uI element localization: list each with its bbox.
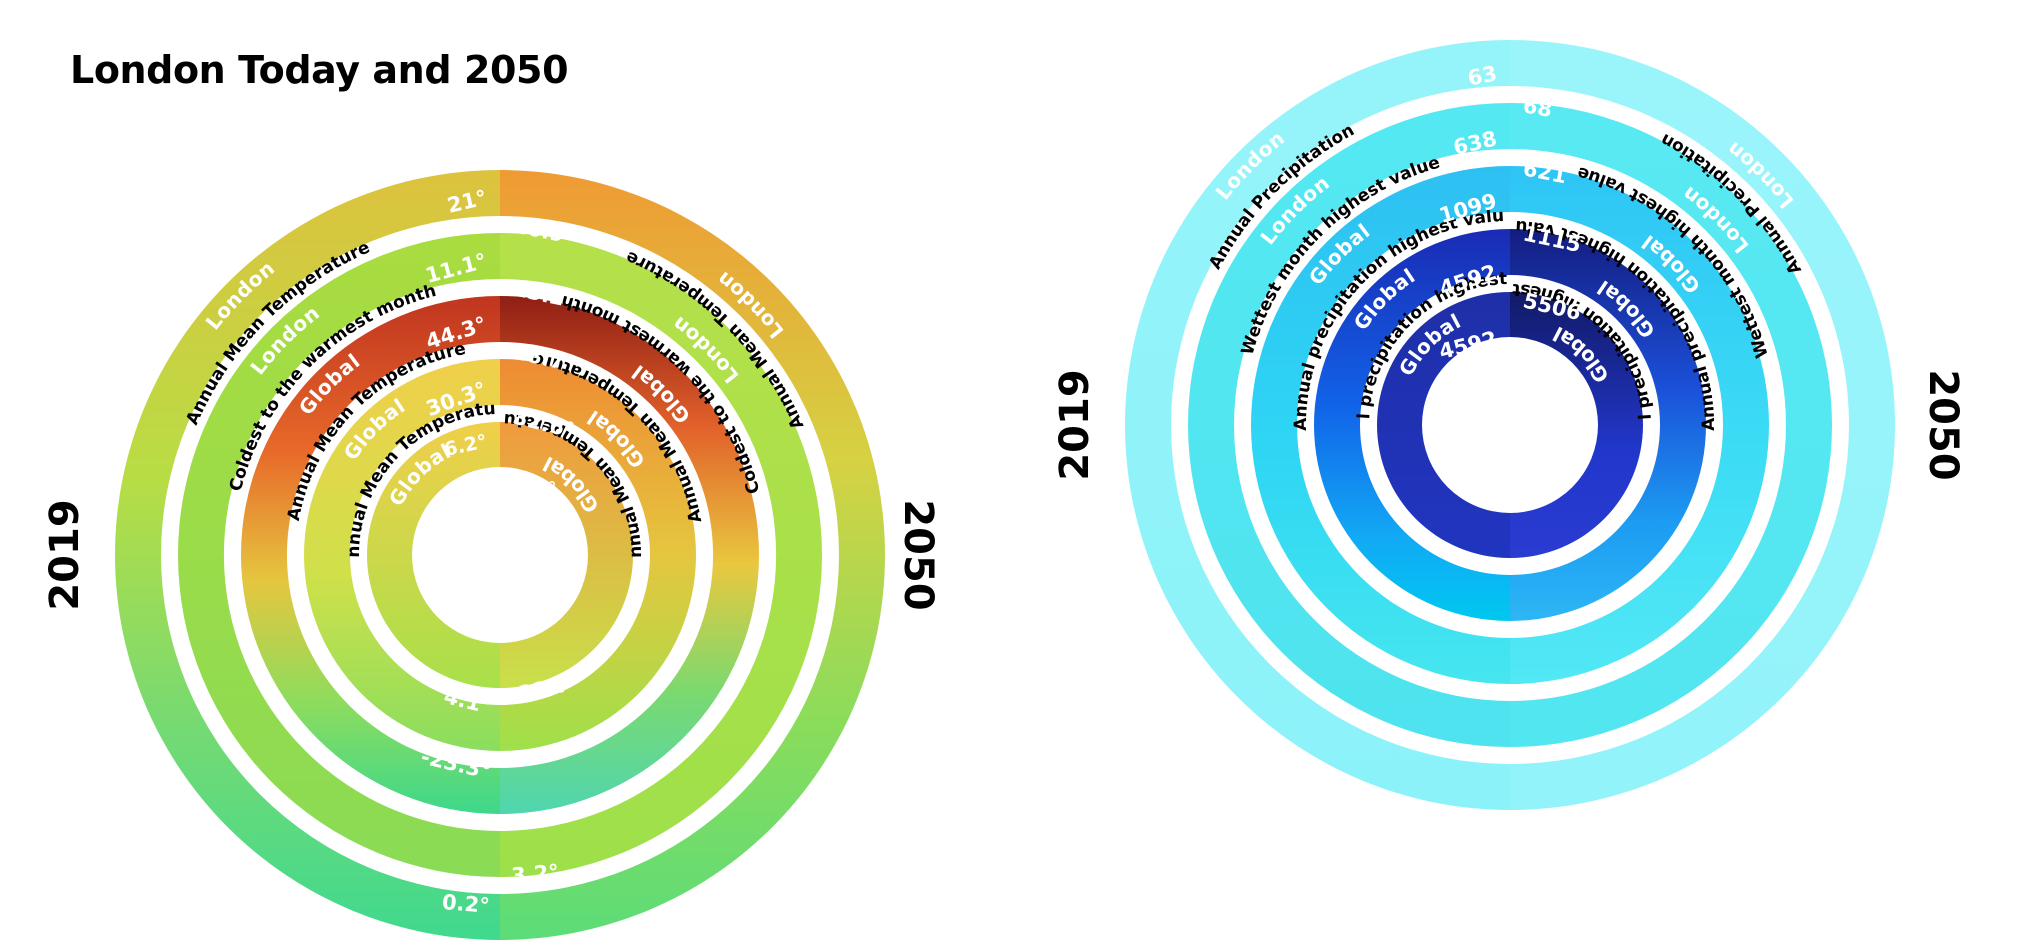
value-2050-ring0: 5506 xyxy=(1521,367,1584,404)
value-2050-ring4: 68 xyxy=(1521,93,1554,122)
value-annotation-2050-min-ring4: 3.2° xyxy=(510,860,560,888)
chart-temperature: Global Annual Mean Temperature Global An… xyxy=(0,0,1010,950)
year-label-left-2019: 2019 xyxy=(1052,369,1098,480)
year-label-left-2019: 2019 xyxy=(42,499,88,610)
year-label-right-2050: 2050 xyxy=(895,499,941,610)
temperature-svg: Global Annual Mean Temperature Global An… xyxy=(0,0,1010,950)
chart-precipitation: Global Annual precipitation highest valu… xyxy=(1010,0,2018,950)
visualization-canvas: London Today and 2050 xyxy=(0,0,2018,950)
year-label-right-2050: 2050 xyxy=(1920,369,1966,480)
value-annotation-2019-min-ring4: 0.2° xyxy=(441,890,491,918)
precipitation-svg: Global Annual precipitation highest valu… xyxy=(1010,0,2018,950)
